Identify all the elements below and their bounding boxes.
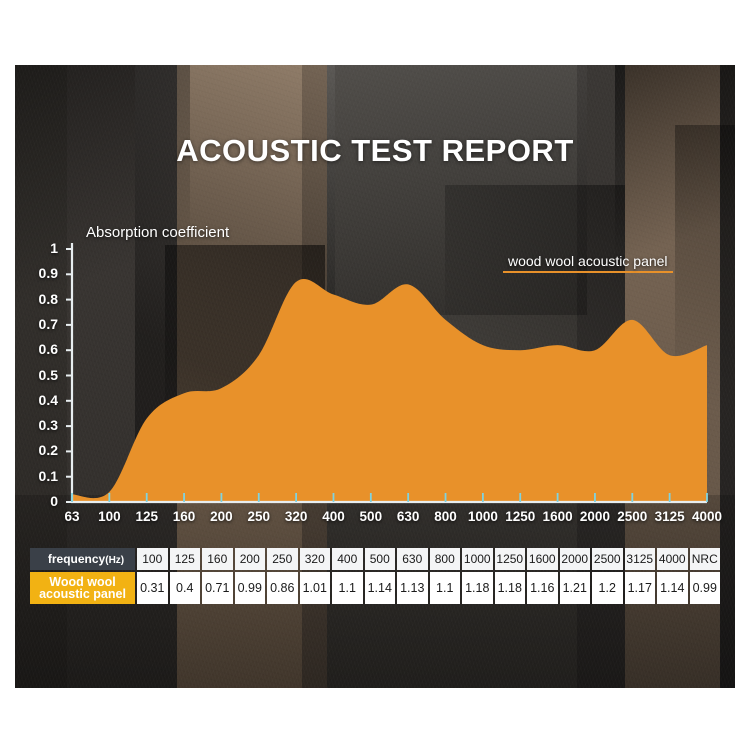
table-header-frequency: frequency(Hz) (30, 548, 135, 570)
x-tick-label: 2500 (617, 509, 647, 524)
row-label-line2: acoustic panel (39, 587, 126, 601)
table-column-header: NRC (690, 548, 721, 570)
table-column-header: 3125 (625, 548, 656, 570)
table-cell-value: 1.16 (527, 572, 558, 604)
y-tick-label: 0.1 (30, 468, 58, 484)
x-tick-label: 1600 (543, 509, 573, 524)
table-column-header: 500 (365, 548, 396, 570)
table-column-header: 160 (202, 548, 233, 570)
y-tick-label: 0.6 (30, 341, 58, 357)
table-column-header: 125 (170, 548, 201, 570)
table-column-header: 400 (332, 548, 363, 570)
x-tick-label: 500 (360, 509, 383, 524)
frequency-text: frequency (48, 552, 105, 566)
x-tick-label: 320 (285, 509, 308, 524)
acoustic-test-report-page: ACOUSTIC TEST REPORT Absorption coeffici… (0, 0, 750, 750)
table-cell-value: 1.1 (430, 572, 461, 604)
table-column-header: 630 (397, 548, 428, 570)
x-tick-label: 3125 (655, 509, 685, 524)
table-column-header: 100 (137, 548, 168, 570)
table-cell-value: 1.21 (560, 572, 591, 604)
y-tick-label: 0.8 (30, 291, 58, 307)
x-tick-label: 4000 (692, 509, 722, 524)
table-cell-value: 1.13 (397, 572, 428, 604)
x-tick-label: 160 (173, 509, 196, 524)
y-tick-label: 1 (30, 240, 58, 256)
y-tick-label: 0 (30, 493, 58, 509)
x-tick-label: 630 (397, 509, 420, 524)
table-row-label: Wood wool acoustic panel (30, 572, 135, 604)
table-column-header: 2000 (560, 548, 591, 570)
table-cell-value: 0.99 (690, 572, 721, 604)
y-tick-label: 0.4 (30, 392, 58, 408)
frequency-unit: (Hz) (105, 555, 124, 566)
y-tick-label: 0.2 (30, 442, 58, 458)
table-column-header: 4000 (657, 548, 688, 570)
table-cell-value: 0.71 (202, 572, 233, 604)
table-column-header: 800 (430, 548, 461, 570)
table-cell-value: 1.18 (462, 572, 493, 604)
x-tick-label: 2000 (580, 509, 610, 524)
table-cell-value: 1.14 (657, 572, 688, 604)
table-column-header: 250 (267, 548, 298, 570)
x-tick-label: 125 (135, 509, 158, 524)
table-cell-value: 0.31 (137, 572, 168, 604)
table-cell-value: 0.86 (267, 572, 298, 604)
table-column-header: 200 (235, 548, 266, 570)
x-tick-label: 1250 (505, 509, 535, 524)
x-tick-label: 100 (98, 509, 121, 524)
table-column-header: 1000 (462, 548, 493, 570)
y-tick-label: 0.7 (30, 316, 58, 332)
y-tick-label: 0.5 (30, 367, 58, 383)
y-axis-label: Absorption coefficient (86, 224, 229, 241)
table-cell-value: 1.18 (495, 572, 526, 604)
y-tick-label: 0.9 (30, 265, 58, 281)
table-cell-value: 1.2 (592, 572, 623, 604)
table-cell-value: 0.99 (235, 572, 266, 604)
table-column-header: 320 (300, 548, 331, 570)
x-tick-label: 400 (322, 509, 345, 524)
table-header-row: frequency(Hz) 10012516020025032040050063… (30, 548, 720, 570)
page-title: ACOUSTIC TEST REPORT (0, 133, 750, 169)
table-column-header: 1600 (527, 548, 558, 570)
legend-wood-wool-acoustic-panel: wood wool acoustic panel (503, 252, 673, 273)
y-tick-label: 0.3 (30, 417, 58, 433)
absorption-data-table: frequency(Hz) 10012516020025032040050063… (28, 546, 722, 606)
x-tick-label: 63 (64, 509, 79, 524)
table-cell-value: 1.01 (300, 572, 331, 604)
table-column-header: 1250 (495, 548, 526, 570)
x-tick-label: 200 (210, 509, 233, 524)
x-tick-label: 800 (434, 509, 457, 524)
table-cell-value: 1.14 (365, 572, 396, 604)
x-tick-label: 250 (247, 509, 270, 524)
table-cell-value: 1.1 (332, 572, 363, 604)
x-tick-label: 1000 (468, 509, 498, 524)
table-cell-value: 0.4 (170, 572, 201, 604)
table-column-header: 2500 (592, 548, 623, 570)
table-values-row: Wood wool acoustic panel 0.310.40.710.99… (30, 572, 720, 604)
table-cell-value: 1.17 (625, 572, 656, 604)
